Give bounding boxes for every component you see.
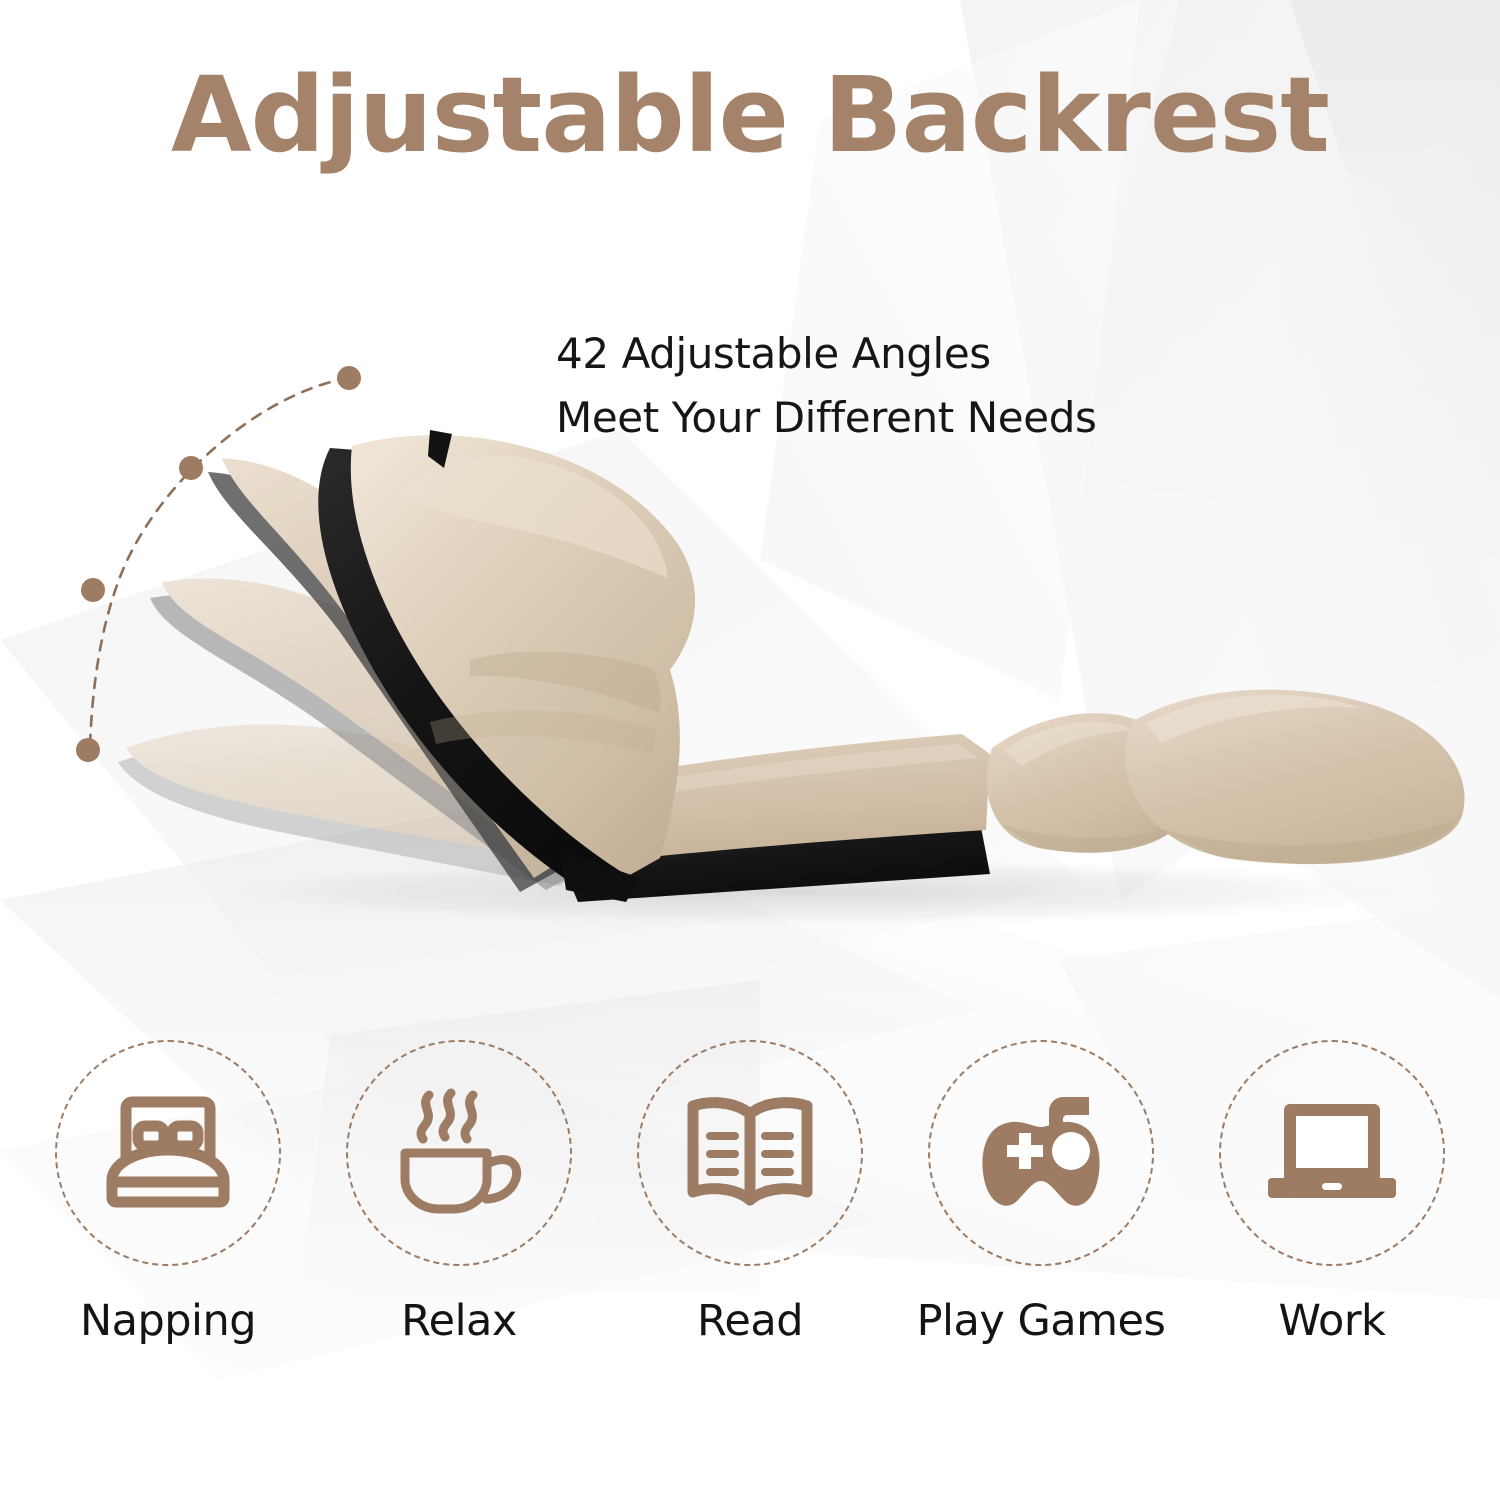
page-title: Adjustable Backrest: [0, 58, 1500, 172]
feature-row: Napping Relax: [0, 1040, 1500, 1420]
feature-label-read: Read: [697, 1296, 803, 1346]
bed-icon: [100, 1092, 236, 1214]
arc-dashed-line: [90, 378, 348, 746]
feature-work: Work: [1208, 1040, 1456, 1420]
feature-circle-napping: [55, 1040, 281, 1266]
arc-dot-1: [337, 366, 361, 390]
feature-circle-work: [1219, 1040, 1445, 1266]
feature-circle-relax: [346, 1040, 572, 1266]
arc-dot-3: [81, 578, 105, 602]
laptop-icon: [1260, 1096, 1404, 1210]
feature-read: Read: [626, 1040, 874, 1420]
open-book-icon: [679, 1092, 821, 1214]
product-infographic: Adjustable Backrest 42 Adjustable Angles…: [0, 0, 1500, 1500]
arc-dot-4: [76, 738, 100, 762]
feature-label-play-games: Play Games: [917, 1296, 1166, 1346]
pillow-2: [1125, 690, 1464, 864]
arc-dot-2: [179, 456, 203, 480]
adjustable-angle-arc: [30, 350, 370, 790]
feature-relax: Relax: [335, 1040, 583, 1420]
feature-circle-play-games: [928, 1040, 1154, 1266]
feature-label-napping: Napping: [80, 1296, 256, 1346]
feature-circle-read: [637, 1040, 863, 1266]
feature-napping: Napping: [44, 1040, 292, 1420]
feature-play-games: Play Games: [917, 1040, 1165, 1420]
gamepad-icon: [971, 1089, 1111, 1217]
coffee-cup-icon: [389, 1087, 529, 1219]
feature-label-relax: Relax: [401, 1296, 517, 1346]
feature-label-work: Work: [1279, 1296, 1386, 1346]
